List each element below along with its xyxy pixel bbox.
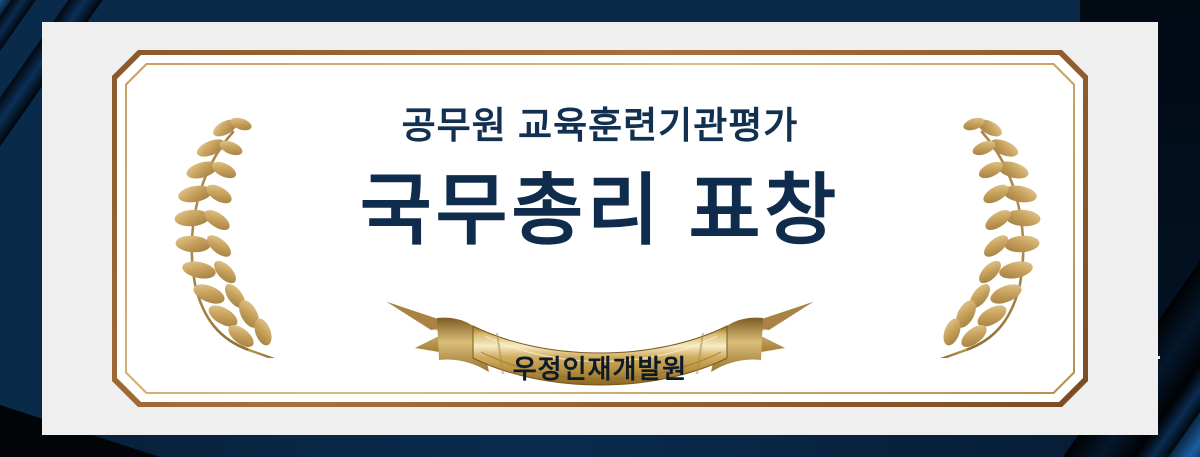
banner-headline: 공무원 교육훈련기관평가 [0,95,1200,149]
bottom-navy-band [0,433,1200,457]
award-ribbon [385,296,815,392]
banner-title: 국무총리 표창 [0,168,1200,254]
award-banner: 공무원 교육훈련기관평가 국무총리 표창 [0,0,1200,457]
